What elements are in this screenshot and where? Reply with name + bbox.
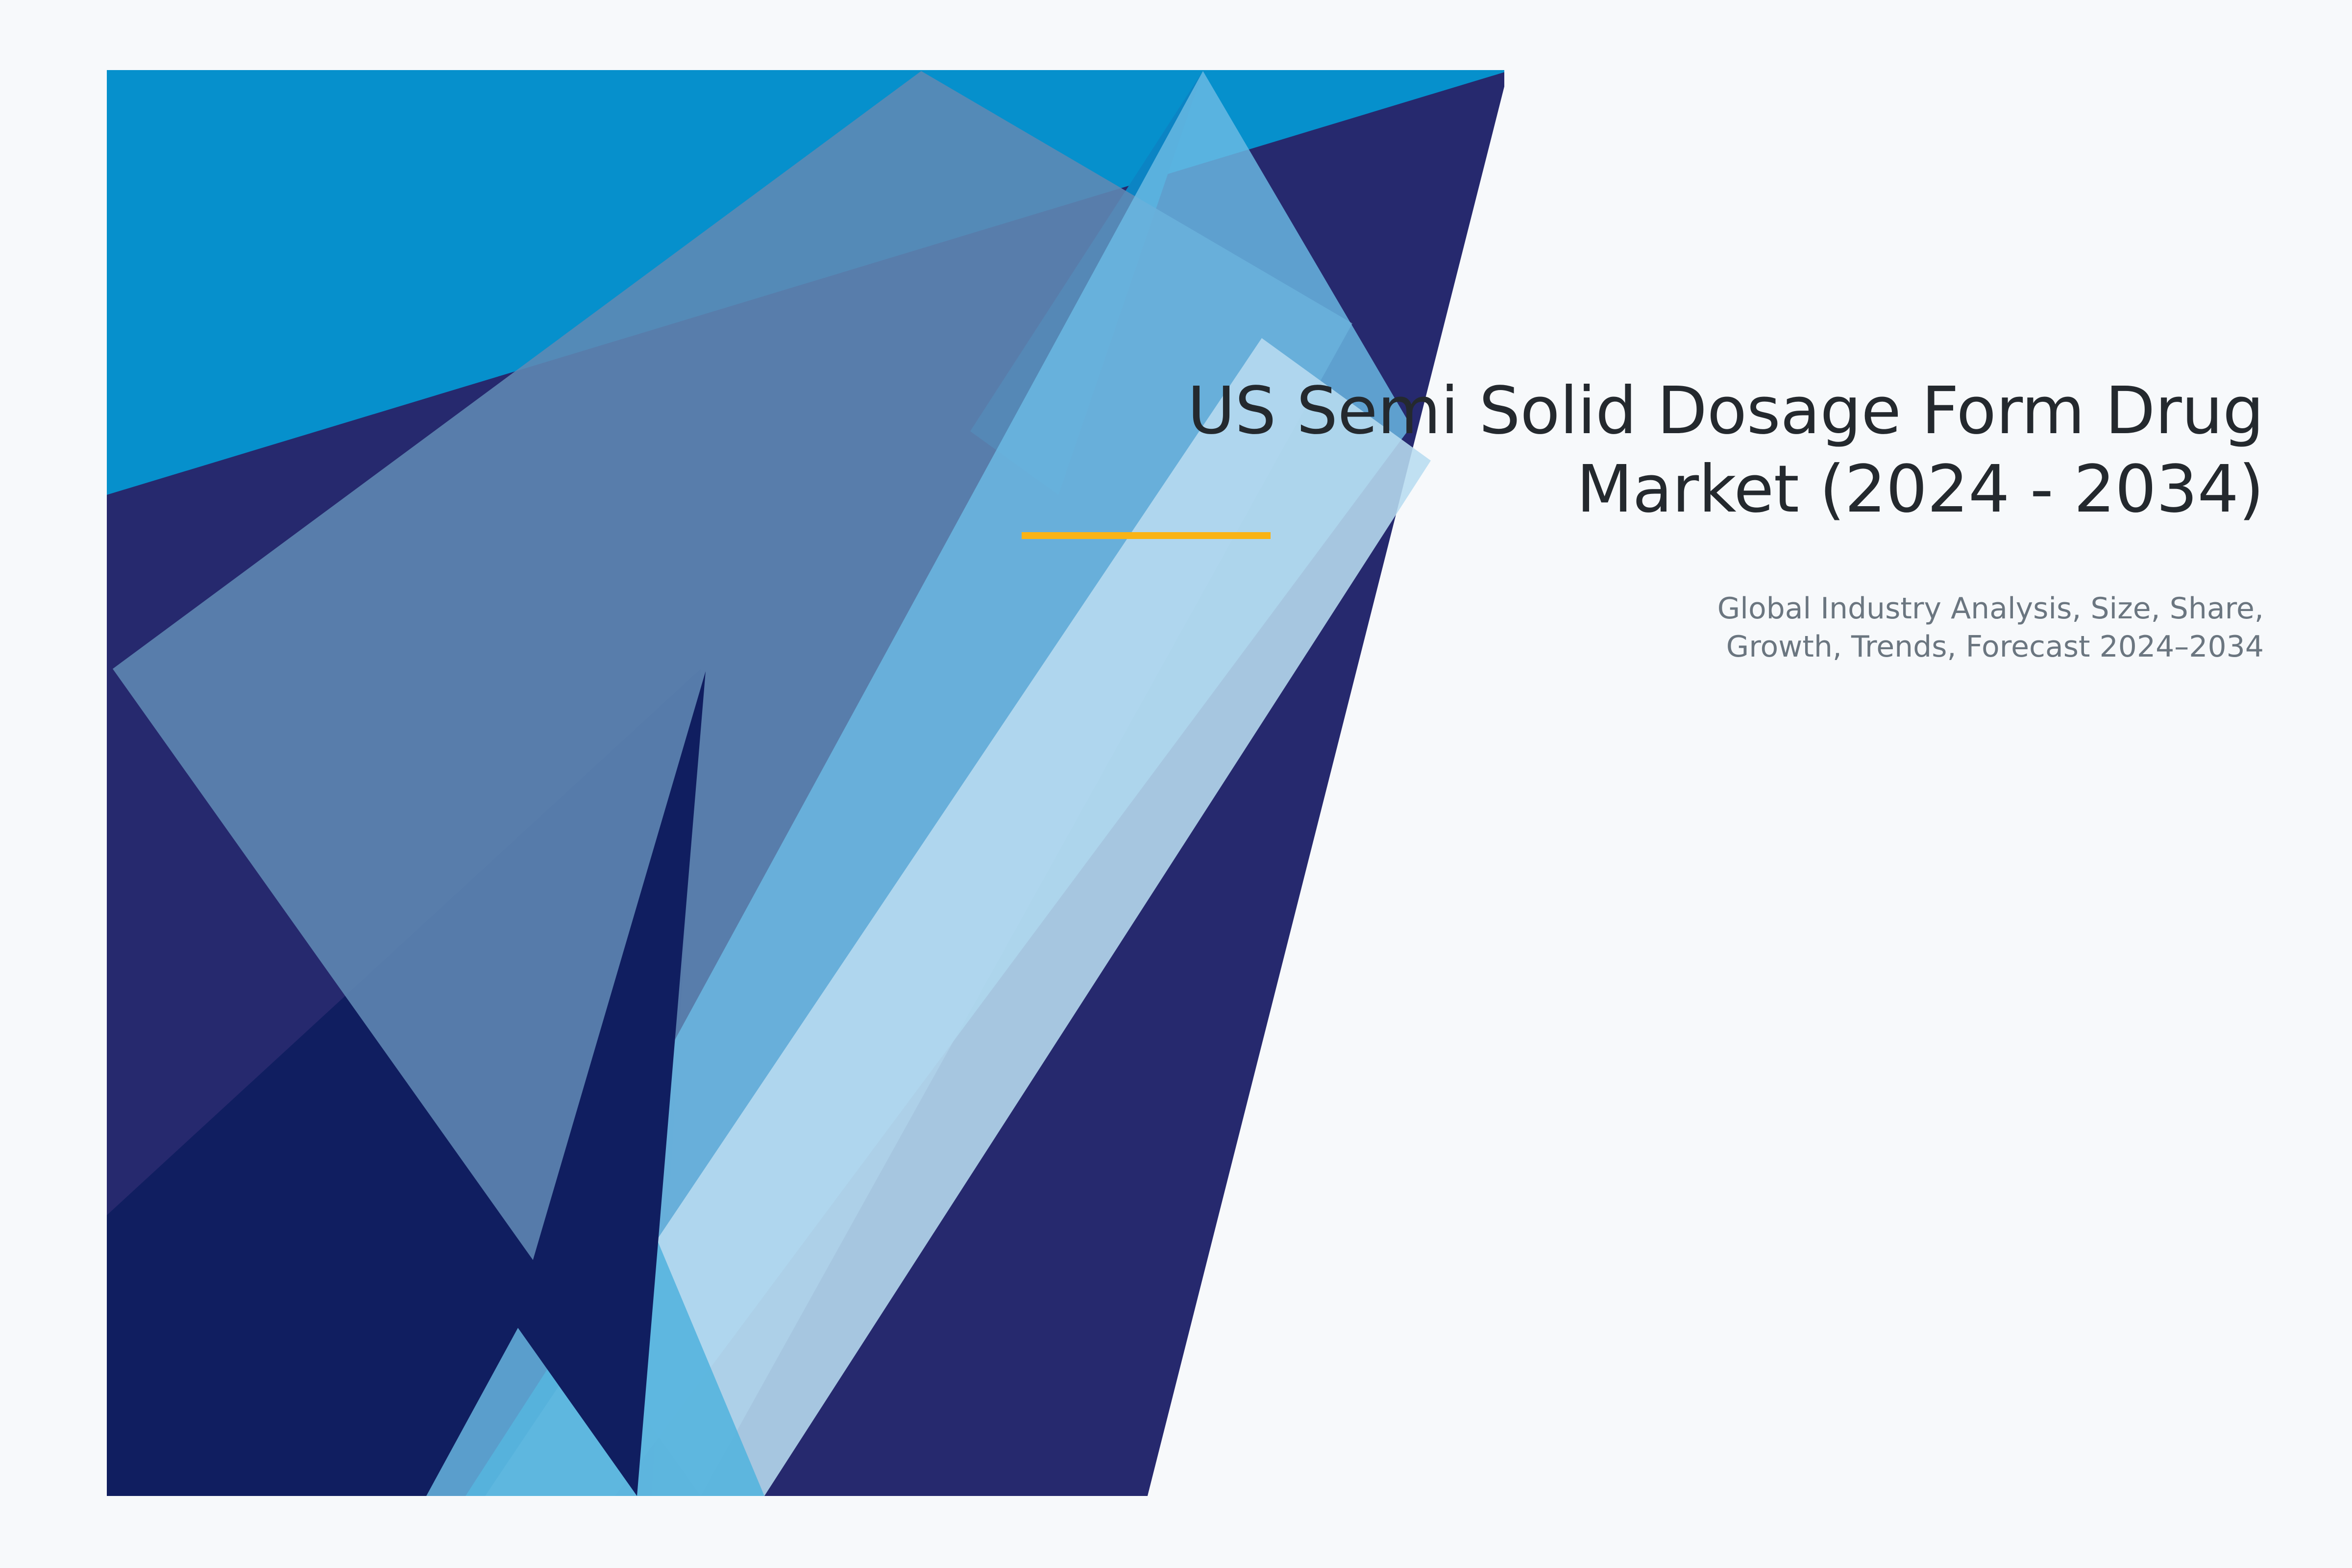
abstract-geometric-artwork: [0, 0, 2352, 1568]
cover-text-block: US Semi Solid Dosage Form Drug Market (2…: [980, 372, 2264, 666]
report-cover: US Semi Solid Dosage Form Drug Market (2…: [0, 0, 2352, 1568]
artwork-panel: [107, 70, 1508, 1519]
page-title: US Semi Solid Dosage Form Drug Market (2…: [980, 372, 2264, 529]
page-subtitle: Global Industry Analysis, Size, Share, G…: [980, 529, 2264, 666]
title-accent-underline: [1022, 532, 1271, 539]
